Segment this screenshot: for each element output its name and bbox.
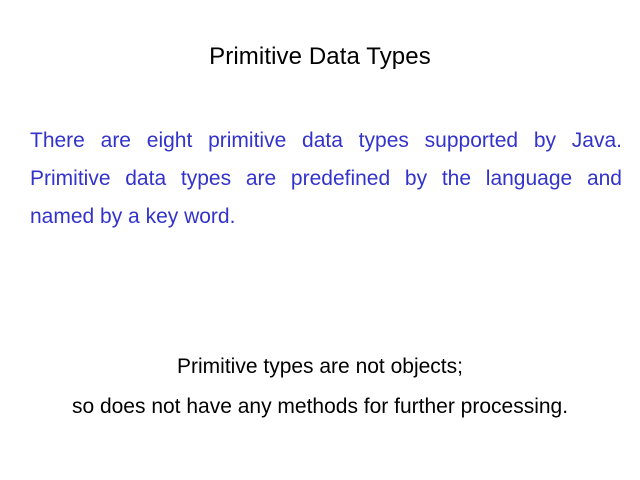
note-paragraph: Primitive types are not objects; so does… xyxy=(0,347,640,427)
note-line: so does not have any methods for further… xyxy=(0,387,640,427)
body-line: named by a key word. xyxy=(30,198,622,236)
note-line: Primitive types are not objects; xyxy=(0,347,640,387)
page-title: Primitive Data Types xyxy=(0,42,640,72)
body-line: There are eight primitive data types sup… xyxy=(30,122,622,160)
body-line: Primitive data types are predefined by t… xyxy=(30,160,622,198)
slide-canvas: Primitive Data Types There are eight pri… xyxy=(0,0,640,480)
body-paragraph: There are eight primitive data types sup… xyxy=(30,122,622,236)
